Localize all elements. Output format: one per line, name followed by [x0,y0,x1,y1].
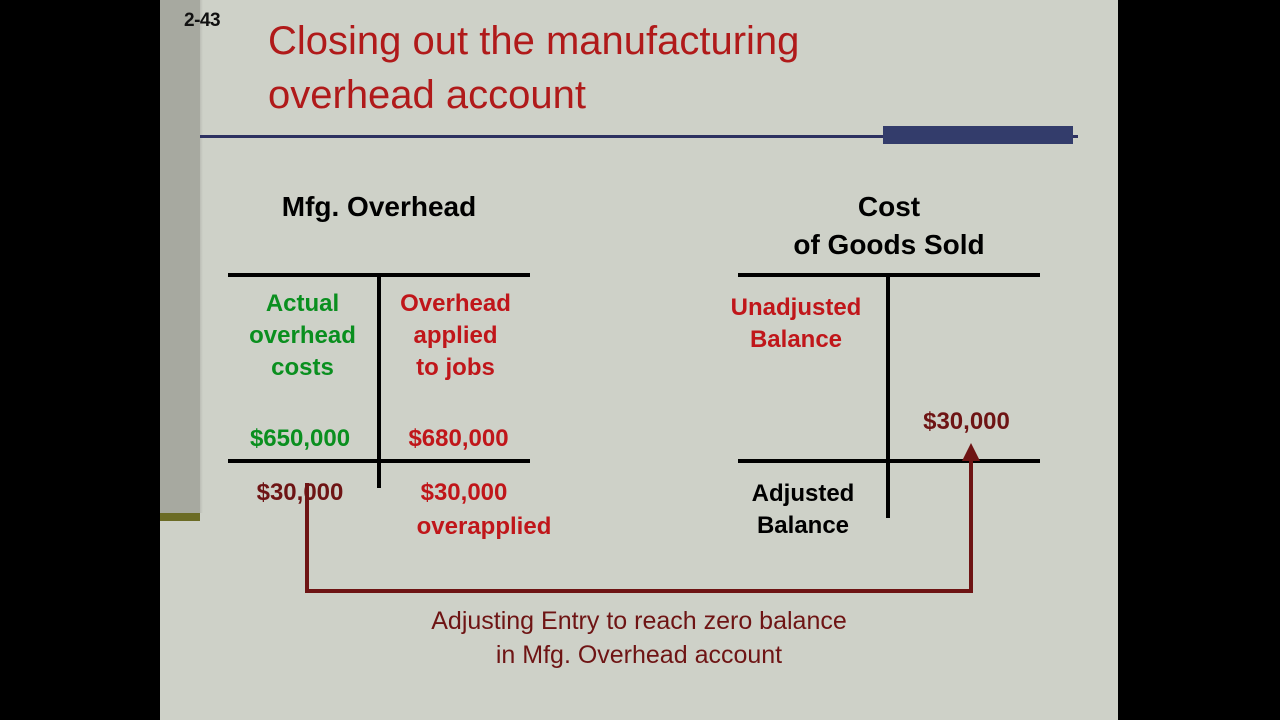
slide-canvas: 2-43 Closing out the manufacturing overh… [160,0,1118,720]
cogs-unadjusted-balance-label: Unadjusted Balance [706,292,886,356]
mfg-overhead-debit-label: Actual overhead costs [228,288,377,384]
t-account-balance-rule-cogs [738,459,1040,463]
mfg-overhead-debit-balance: $30,000 [223,477,377,509]
cogs-adjusted-balance-label: Adjusted Balance [720,478,886,542]
page-title: Closing out the manufacturing overhead a… [268,14,968,122]
t-account-title-cost-of-goods-sold: Cost of Goods Sold [738,188,1040,264]
adjusting-entry-connector-across [305,589,973,593]
adjusting-entry-connector-up [969,458,973,593]
slide-left-accent-band-shadow [200,0,203,513]
mfg-overhead-credit-balance: $30,000 [384,477,544,509]
slide-left-accent-band [160,0,200,513]
diagram-caption: Adjusting Entry to reach zero balance in… [200,604,1078,672]
cogs-credit-amount: $30,000 [893,406,1040,438]
t-account-center-rule-cogs [886,273,890,518]
adjusting-entry-connector-down [305,483,309,593]
mfg-overhead-credit-label: Overhead applied to jobs [381,288,530,384]
t-account-title-mfg-overhead: Mfg. Overhead [228,188,530,226]
mfg-overhead-debit-amount: $650,000 [223,423,377,455]
slide-number: 2-43 [184,10,220,32]
slide-olive-accent-bar [160,513,200,521]
title-accent-block [883,126,1073,144]
adjusting-entry-arrow-icon [962,443,980,461]
mfg-overhead-credit-balance-note: overapplied [384,511,584,543]
t-account-balance-rule-mfg-overhead [228,459,530,463]
mfg-overhead-credit-amount: $680,000 [384,423,533,455]
slide-viewer: 2-43 Closing out the manufacturing overh… [0,0,1280,720]
